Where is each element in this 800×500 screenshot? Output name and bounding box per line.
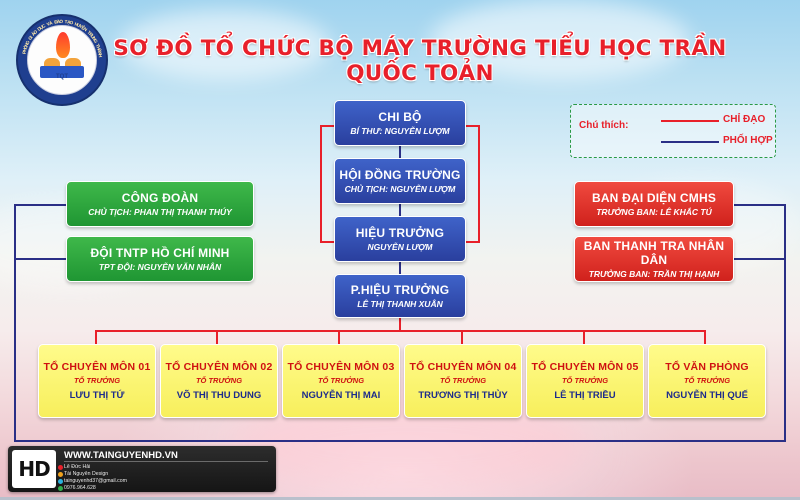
team-4-role: TỔ TRƯỞNG [440,375,486,386]
node-doi-tntp-sub: TPT ĐỘI: NGUYỄN VĂN NHÂN [99,262,221,273]
connector-right-bus-cmhs [734,204,786,206]
node-p-hieu-truong-title: P.HIỆU TRƯỞNG [351,283,450,297]
node-ban-thanh-tra-nhan-dan[interactable]: BAN THANH TRA NHÂN DÂN TRƯỞNG BAN: TRẦN … [574,236,734,282]
team-6-role: TỔ TRƯỞNG [684,375,730,386]
connector-team-3-drop [338,330,340,344]
page-title: SƠ ĐỒ TỔ CHỨC BỘ MÁY TRƯỜNG TIỂU HỌC TRẦ… [90,36,750,86]
team-6-title: TỔ VĂN PHÒNG [665,361,749,373]
team-1-name: LƯU THỊ TỨ [70,390,125,401]
footer-line-4: 0976.964.628 [64,485,96,491]
node-cong-doan-title: CÔNG ĐOÀN [122,191,198,205]
connector-team-4-drop [461,330,463,344]
team-4-name: TRƯƠNG THỊ THỦY [418,390,507,401]
node-hoi-dong-title: HỘI ĐỒNG TRƯỜNG [339,168,460,182]
team-1-role: TỔ TRƯỞNG [74,375,120,386]
node-doi-tntp-title: ĐỘI TNTP HỒ CHÍ MINH [90,246,229,260]
hd-logo-text: HD [18,457,49,481]
connector-team-5-drop [583,330,585,344]
hd-logo-subtext: DESIGN [12,482,56,488]
footer-line-2: Tài Nguyên Design [64,471,108,477]
node-p-hieu-truong-sub: LÊ THỊ THANH XUÂN [357,299,442,310]
team-4-title: TỔ CHUYÊN MÔN 04 [409,361,516,373]
connector-red-right-to-hieutruong [466,241,480,243]
node-thanh-tra-title: BAN THANH TRA NHÂN DÂN [577,239,731,267]
node-cong-doan-sub: CHỦ TỊCH: PHAN THỊ THANH THÚY [88,207,232,218]
team-3-name: NGUYỄN THỊ MAI [302,390,381,401]
legend-label-phoi-hop: PHỐI HỢP [723,135,773,146]
website-url[interactable]: WWW.TAINGUYENHD.VN [64,450,178,461]
node-team-2[interactable]: TỔ CHUYÊN MÔN 02 TỔ TRƯỞNG VÕ THỊ THU DU… [160,344,278,418]
node-doi-tntp[interactable]: ĐỘI TNTP HỒ CHÍ MINH TPT ĐỘI: NGUYỄN VĂN… [66,236,254,282]
legend-line-phoi-hop [661,141,719,143]
diagram-canvas: TQT PHÒNG GIÁO DỤC VÀ ĐÀO TẠO HUYỆN TRUN… [0,0,800,500]
connector-right-bus-vert [784,204,786,442]
team-3-role: TỔ TRƯỞNG [318,375,364,386]
node-ban-dai-dien-cmhs[interactable]: BAN ĐẠI DIỆN CMHS TRƯỞNG BAN: LÊ KHẮC TÚ [574,181,734,227]
connector-bottom-rail [14,440,786,442]
footer-divider [64,461,268,462]
legend-line-chi-dao [661,120,719,122]
team-2-role: TỔ TRƯỞNG [196,375,242,386]
team-1-title: TỔ CHUYÊN MÔN 01 [43,361,150,373]
team-5-name: LÊ THỊ TRIỀU [554,390,615,401]
footer-line-1: Lê Đức Hải [64,464,90,470]
connector-left-bus-congdoan [14,204,66,206]
connector-team-6-drop [704,330,706,344]
team-3-title: TỔ CHUYÊN MÔN 03 [287,361,394,373]
node-thanh-tra-sub: TRƯỞNG BAN: TRẦN THỊ HẠNH [589,269,720,280]
connector-team-1-drop [95,330,97,344]
connector-right-bus-thanhtra [734,258,786,260]
connector-red-left-vert [320,125,322,243]
node-hoi-dong-truong[interactable]: HỘI ĐỒNG TRƯỜNG CHỦ TỊCH: NGUYỄN LƯỢM [334,158,466,204]
team-5-title: TỔ CHUYÊN MÔN 05 [531,361,638,373]
legend-label-chi-dao: CHỈ ĐẠO [723,114,765,125]
node-hoi-dong-sub: CHỦ TỊCH: NGUYỄN LƯỢM [345,184,456,195]
node-team-6[interactable]: TỔ VĂN PHÒNG TỔ TRƯỞNG NGUYỄN THỊ QUẾ [648,344,766,418]
team-2-title: TỔ CHUYÊN MÔN 02 [165,361,272,373]
team-5-role: TỔ TRƯỞNG [562,375,608,386]
node-chi-bo-sub: BÍ THƯ: NGUYỄN LƯỢM [350,126,449,137]
team-2-name: VÕ THỊ THU DUNG [177,390,261,401]
contact-dot-icon [58,465,63,470]
legend: Chú thích: CHỈ ĐẠO PHỐI HỢP [570,104,776,158]
footer-bar: HD DESIGN WWW.TAINGUYENHD.VN Lê Đức Hải … [8,446,276,492]
node-cmhs-sub: TRƯỞNG BAN: LÊ KHẮC TÚ [596,207,712,218]
node-hieu-truong[interactable]: HIỆU TRƯỞNG NGUYỄN LƯỢM [334,216,466,262]
team-6-name: NGUYỄN THỊ QUẾ [666,390,748,401]
connector-red-right-vert [478,125,480,243]
contact-dot-icon [58,479,63,484]
connector-team-2-drop [216,330,218,344]
node-hieu-truong-sub: NGUYỄN LƯỢM [368,242,433,253]
connector-red-left-to-hieutruong [320,241,334,243]
node-team-1[interactable]: TỔ CHUYÊN MÔN 01 TỔ TRƯỞNG LƯU THỊ TỨ [38,344,156,418]
node-team-3[interactable]: TỔ CHUYÊN MÔN 03 TỔ TRƯỞNG NGUYỄN THỊ MA… [282,344,400,418]
contact-dot-icon [58,486,63,491]
node-hieu-truong-title: HIỆU TRƯỞNG [356,226,444,240]
node-chi-bo-title: CHI BỘ [378,110,421,124]
contact-dot-icon [58,472,63,477]
node-p-hieu-truong[interactable]: P.HIỆU TRƯỞNG LÊ THỊ THANH XUÂN [334,274,466,318]
node-team-4[interactable]: TỔ CHUYÊN MÔN 04 TỔ TRƯỞNG TRƯƠNG THỊ TH… [404,344,522,418]
node-cmhs-title: BAN ĐẠI DIỆN CMHS [592,191,716,205]
connector-red-left-stub [320,125,334,127]
footer-line-3: tainguyenhd37@gmail.com [64,478,127,484]
node-chi-bo[interactable]: CHI BỘ BÍ THƯ: NGUYỄN LƯỢM [334,100,466,146]
legend-heading: Chú thích: [579,120,628,131]
node-cong-doan[interactable]: CÔNG ĐOÀN CHỦ TỊCH: PHAN THỊ THANH THÚY [66,181,254,227]
connector-left-bus-vert [14,204,16,442]
connector-left-bus-doitntp [14,258,66,260]
connector-teams-horizontal [95,330,705,332]
node-team-5[interactable]: TỔ CHUYÊN MÔN 05 TỔ TRƯỞNG LÊ THỊ TRIỀU [526,344,644,418]
